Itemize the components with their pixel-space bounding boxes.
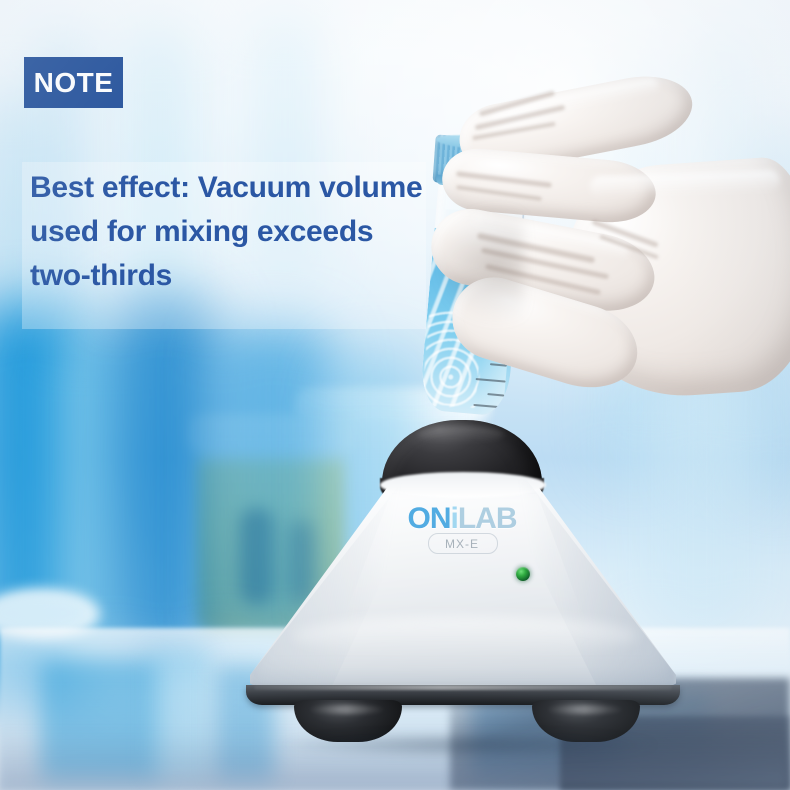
device-contact-shadow: [272, 732, 662, 758]
note-badge-label: NOTE: [34, 67, 114, 99]
brand-logo-i: i: [451, 502, 458, 535]
product-image-stage: ONiLAB MX-E: [0, 0, 790, 790]
mixer-body-gloss: [292, 616, 638, 656]
vortex-mixer-device: ONiLAB MX-E: [232, 420, 692, 750]
gloved-hand: [470, 55, 790, 435]
headline-text: Best effect: Vacuum volume used for mixi…: [30, 166, 440, 298]
suction-cup-highlight-right: [546, 705, 624, 714]
glove-cast-shadow: [434, 205, 524, 325]
suction-cup-highlight-left: [308, 705, 386, 714]
brand-logo-lab: LAB: [458, 502, 517, 535]
headline-line-2: used for mixing exceeds: [30, 210, 440, 254]
brand-logo-on: ON: [408, 502, 451, 535]
mixer-base-rim-highlight: [254, 685, 672, 690]
power-led-indicator: [516, 567, 530, 581]
headline-line-1: Best effect: Vacuum volume: [30, 166, 440, 210]
headline-line-3: two-thirds: [30, 254, 440, 298]
model-label: MX-E: [382, 537, 542, 551]
note-badge: NOTE: [24, 57, 123, 108]
brand-logo: ONiLAB: [382, 504, 542, 534]
